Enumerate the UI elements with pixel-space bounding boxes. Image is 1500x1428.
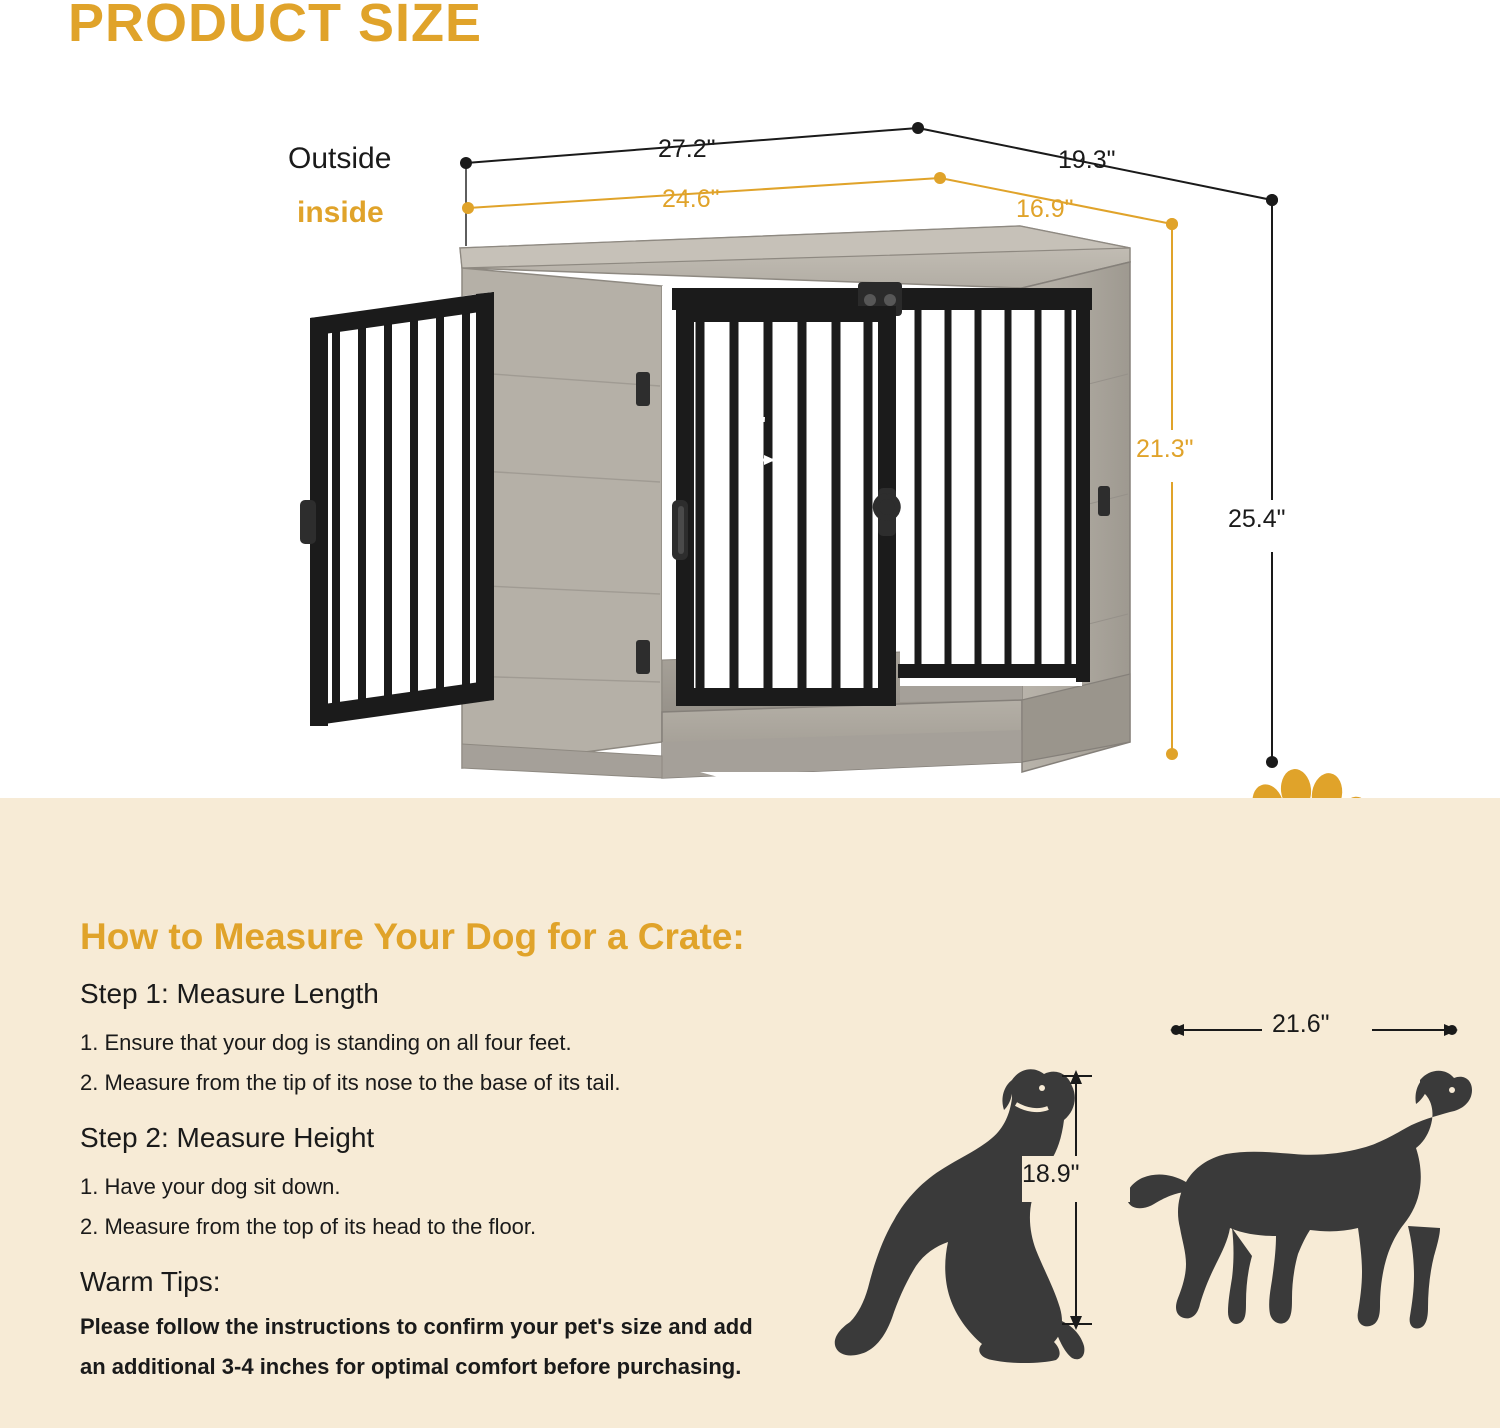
open-door-handle-icon bbox=[300, 500, 316, 544]
dimension-inside-depth: 16.9" bbox=[1016, 195, 1074, 224]
product-size-infographic: PRODUCT SIZE Outside inside bbox=[0, 0, 1500, 1428]
dimension-bar-spacing: 2" bbox=[745, 412, 766, 439]
dimension-outside-width: 27.2" bbox=[658, 135, 716, 164]
dog-crate-illustration bbox=[0, 0, 1500, 800]
hinge-icon bbox=[636, 640, 650, 674]
standing-dog-silhouette bbox=[1127, 1071, 1472, 1329]
door-handle-icon bbox=[672, 500, 688, 560]
hinge-icon bbox=[636, 372, 650, 406]
dimension-inside-height: 21.3" bbox=[1136, 435, 1194, 464]
dog-measurement-illustration bbox=[0, 798, 1500, 1428]
hinge-icon bbox=[1098, 486, 1110, 516]
dimension-outside-height: 25.4" bbox=[1228, 505, 1286, 534]
measure-guide-section: How to Measure Your Dog for a Crate: Ste… bbox=[0, 798, 1500, 1428]
dog-height-measurement: 18.9" bbox=[1022, 1160, 1080, 1189]
dog-length-measurement: 21.6" bbox=[1272, 1010, 1330, 1039]
dimension-inside-width: 24.6" bbox=[662, 185, 720, 214]
door-latch-icon bbox=[876, 488, 898, 536]
product-diagram-section: Outside inside bbox=[0, 0, 1500, 800]
sitting-dog-silhouette bbox=[835, 1069, 1085, 1363]
dimension-outside-depth: 19.3" bbox=[1058, 146, 1116, 175]
